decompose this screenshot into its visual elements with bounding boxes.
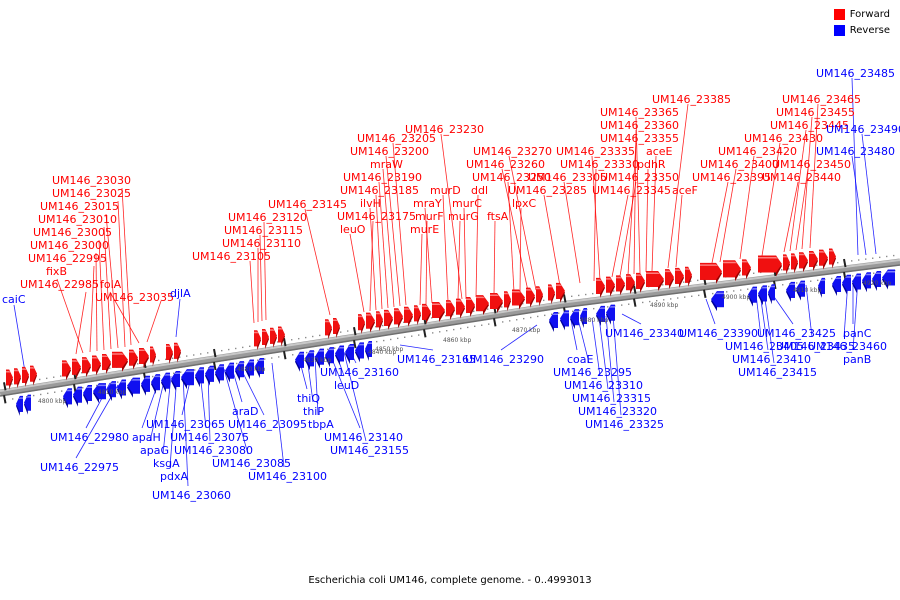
gene-label[interactable]: UM146_23345 bbox=[592, 185, 671, 196]
scale-tick-minor bbox=[733, 290, 734, 291]
gene-arrow-highlight bbox=[791, 255, 796, 257]
gene-arrow-forward[interactable] bbox=[596, 278, 605, 298]
gene-arrow-reverse[interactable] bbox=[549, 312, 558, 332]
gene-label[interactable]: UM146_23155 bbox=[330, 445, 409, 456]
gene-arrow-forward[interactable] bbox=[278, 327, 285, 347]
gene-arrow-forward[interactable] bbox=[723, 260, 741, 281]
gene-label[interactable]: UM146_23360 bbox=[600, 120, 679, 131]
gene-label[interactable]: UM146_23105 bbox=[192, 251, 271, 262]
gene-arrow-forward[interactable] bbox=[325, 319, 332, 339]
gene-arrow-highlight bbox=[548, 286, 553, 288]
gene-arrow-forward[interactable] bbox=[466, 297, 475, 317]
scale-tick-major bbox=[704, 290, 706, 298]
gene-arrow-highlight bbox=[333, 319, 338, 321]
gene-arrow-highlight bbox=[504, 293, 509, 295]
gene-arrow-forward[interactable] bbox=[791, 253, 798, 273]
forward-color-swatch bbox=[834, 9, 845, 20]
scale-tick-minor bbox=[558, 312, 559, 313]
gene-label[interactable]: UM146_23085 bbox=[212, 458, 291, 469]
gene-arrow-forward[interactable] bbox=[166, 344, 173, 364]
gene-arrow-forward[interactable] bbox=[422, 304, 431, 324]
gene-arrow-forward[interactable] bbox=[512, 289, 525, 309]
gene-arrow-highlight bbox=[325, 321, 330, 323]
scale-tick-label: 4850 kbp bbox=[375, 347, 403, 353]
gene-arrow-highlight bbox=[820, 279, 825, 281]
gene-label[interactable]: tbpA bbox=[308, 419, 334, 430]
gene-arrow-reverse[interactable] bbox=[24, 395, 31, 415]
gene-arrow-reverse[interactable] bbox=[127, 378, 140, 398]
gene-label[interactable]: ksgA bbox=[153, 458, 180, 469]
gene-label[interactable]: UM146_23450 bbox=[772, 159, 851, 170]
gene-label[interactable]: lpxC bbox=[512, 198, 536, 209]
gene-label[interactable]: apaG bbox=[140, 445, 169, 456]
gene-arrow-forward[interactable] bbox=[616, 275, 625, 295]
gene-arrow-forward[interactable] bbox=[432, 302, 445, 322]
figure-caption: Escherichia coli UM146, complete genome.… bbox=[0, 575, 900, 586]
scale-tick-minor bbox=[712, 293, 713, 294]
scale-tick-minor bbox=[453, 329, 454, 330]
gene-arrow-reverse[interactable] bbox=[335, 346, 344, 366]
gene-label[interactable]: UM146_23325 bbox=[585, 419, 664, 430]
gene-label[interactable]: UM146_23340 bbox=[605, 328, 684, 339]
gene-label[interactable]: pdhR bbox=[637, 159, 666, 170]
scale-tick-minor bbox=[726, 291, 727, 292]
leader-line bbox=[458, 221, 460, 300]
scale-tick-minor bbox=[292, 354, 293, 355]
gene-arrow-reverse[interactable] bbox=[832, 276, 841, 296]
gene-label[interactable]: ftsA bbox=[487, 211, 508, 222]
scale-tick-minor bbox=[481, 325, 482, 326]
gene-arrow-forward[interactable] bbox=[548, 284, 555, 304]
scale-tick-label: 4800 kbp bbox=[38, 399, 66, 405]
scale-tick-minor bbox=[572, 311, 573, 312]
gene-arrow-reverse[interactable] bbox=[83, 385, 92, 405]
scale-tick-minor bbox=[152, 376, 153, 377]
scale-tick-minor bbox=[236, 363, 237, 364]
gene-label[interactable]: UM146_23430 bbox=[744, 133, 823, 144]
gene-arrow-forward[interactable] bbox=[665, 269, 674, 289]
scale-tick-minor bbox=[249, 346, 250, 347]
reverse-color-swatch bbox=[834, 25, 845, 36]
gene-label[interactable]: UM146_23295 bbox=[553, 367, 632, 378]
scale-tick-minor bbox=[683, 281, 684, 282]
gene-label[interactable]: UM146_23365 bbox=[600, 107, 679, 118]
leader-line bbox=[520, 208, 521, 292]
gene-arrow-highlight bbox=[18, 397, 23, 399]
gene-label[interactable]: leuD bbox=[334, 380, 359, 391]
gene-arrow-reverse[interactable] bbox=[570, 309, 579, 329]
gene-label[interactable]: UM146_23440 bbox=[762, 172, 841, 183]
gene-label[interactable]: thiP bbox=[303, 406, 324, 417]
scale-tick-minor bbox=[753, 273, 754, 274]
scale-tick-minor bbox=[172, 358, 173, 359]
gene-arrow-highlight bbox=[685, 268, 690, 270]
gene-label[interactable]: UM146_23005 bbox=[33, 227, 112, 238]
scale-tick-minor bbox=[207, 352, 208, 353]
gene-arrow-forward[interactable] bbox=[758, 255, 782, 276]
scale-tick-label: 4920 kbp bbox=[863, 281, 891, 287]
scale-tick-minor bbox=[628, 304, 629, 305]
scale-tick-minor bbox=[592, 293, 593, 294]
scale-tick-major bbox=[214, 362, 216, 370]
gene-arrow-forward[interactable] bbox=[82, 357, 91, 377]
gene-arrow-forward[interactable] bbox=[14, 368, 21, 388]
gene-arrow-forward[interactable] bbox=[446, 300, 455, 320]
gene-label[interactable]: fixB bbox=[46, 266, 67, 277]
scale-tick-minor bbox=[893, 255, 894, 256]
scale-tick-minor bbox=[796, 282, 797, 283]
legend-label-forward: Forward bbox=[850, 10, 890, 20]
gene-label[interactable]: UM146_23465 bbox=[782, 94, 861, 105]
gene-arrow-forward[interactable] bbox=[72, 359, 81, 379]
strand-legend: Forward Reverse bbox=[834, 8, 890, 40]
gene-arrow-highlight bbox=[278, 328, 283, 330]
gene-label[interactable]: UM146_23270 bbox=[473, 146, 552, 157]
gene-arrow-forward[interactable] bbox=[809, 251, 818, 271]
scale-tick-minor bbox=[684, 296, 685, 297]
gene-arrow-reverse[interactable] bbox=[215, 364, 224, 384]
gene-arrow-forward[interactable] bbox=[700, 263, 722, 284]
gene-label[interactable]: UM146_23310 bbox=[564, 380, 643, 391]
scale-tick-minor bbox=[418, 334, 419, 335]
gene-label[interactable]: UM146_22985 bbox=[20, 279, 99, 290]
gene-arrow-reverse[interactable] bbox=[205, 366, 214, 386]
scale-tick-major bbox=[494, 318, 496, 326]
gene-arrow-forward[interactable] bbox=[646, 271, 664, 291]
gene-label[interactable]: UM146_23350 bbox=[600, 172, 679, 183]
scale-tick-minor bbox=[578, 295, 579, 296]
gene-label[interactable]: UM146_23120 bbox=[228, 212, 307, 223]
gene-arrow-forward[interactable] bbox=[254, 330, 261, 350]
gene-arrow-reverse[interactable] bbox=[171, 371, 180, 391]
scale-tick-minor bbox=[621, 304, 622, 305]
scale-tick-minor bbox=[872, 258, 873, 259]
scale-tick-minor bbox=[109, 368, 110, 369]
genome-map-canvas: UM146_23030UM146_23025UM146_23015UM146_2… bbox=[0, 0, 900, 600]
scale-tick-minor bbox=[347, 330, 348, 331]
scale-tick-minor bbox=[46, 378, 47, 379]
gene-label[interactable]: UM146_23460 bbox=[808, 341, 887, 352]
scale-tick-minor bbox=[382, 325, 383, 326]
gene-label[interactable]: ilvH bbox=[360, 198, 381, 209]
gene-label[interactable]: UM146_23385 bbox=[652, 94, 731, 105]
scale-tick-minor bbox=[523, 318, 524, 319]
gene-label[interactable]: UM146_23335 bbox=[556, 146, 635, 157]
leader-line bbox=[622, 314, 641, 324]
scale-tick-minor bbox=[257, 360, 258, 361]
scale-tick-minor bbox=[663, 299, 664, 300]
scale-tick-minor bbox=[376, 341, 377, 342]
gene-arrow-forward[interactable] bbox=[626, 274, 635, 294]
gene-label[interactable]: UM146_23025 bbox=[52, 188, 131, 199]
scale-tick-minor bbox=[460, 328, 461, 329]
gene-arrow-forward[interactable] bbox=[799, 252, 808, 272]
gene-label[interactable]: murE bbox=[410, 224, 439, 235]
gene-label[interactable]: UM146_23145 bbox=[268, 199, 347, 210]
scale-tick-minor bbox=[397, 338, 398, 339]
gene-label[interactable]: pdxA bbox=[160, 471, 188, 482]
scale-tick-major bbox=[284, 351, 286, 359]
scale-tick-minor bbox=[340, 331, 341, 332]
gene-arrow-forward[interactable] bbox=[22, 367, 29, 387]
gene-label[interactable]: UM146_23095 bbox=[228, 419, 307, 430]
leader-line bbox=[350, 234, 364, 312]
gene-arrow-forward[interactable] bbox=[129, 350, 138, 370]
scale-tick-minor bbox=[698, 295, 699, 296]
gene-arrow-highlight bbox=[414, 307, 419, 309]
scale-tick-minor bbox=[543, 300, 544, 301]
gene-label[interactable]: UM146_23400 bbox=[700, 159, 779, 170]
gene-arrow-forward[interactable] bbox=[384, 310, 393, 330]
scale-tick-label: 4890 kbp bbox=[650, 303, 678, 309]
scale-tick-minor bbox=[691, 296, 692, 297]
gene-label[interactable]: aceE bbox=[646, 146, 673, 157]
scale-tick-minor bbox=[327, 349, 328, 350]
gene-arrow-highlight bbox=[700, 264, 718, 266]
gene-arrow-forward[interactable] bbox=[102, 354, 111, 374]
gene-arrow-forward[interactable] bbox=[783, 254, 790, 274]
gene-label[interactable]: caiC bbox=[2, 294, 26, 305]
scale-tick-minor bbox=[390, 339, 391, 340]
gene-arrow-forward[interactable] bbox=[30, 366, 37, 386]
gene-arrow-forward[interactable] bbox=[675, 268, 684, 288]
gene-arrow-reverse[interactable] bbox=[768, 284, 775, 304]
gene-label[interactable]: UM146_23330 bbox=[560, 159, 639, 170]
gene-label[interactable]: djlA bbox=[170, 288, 191, 299]
gene-label[interactable]: UM146_23160 bbox=[320, 367, 399, 378]
gene-arrow-forward[interactable] bbox=[150, 347, 156, 367]
gene-arrow-highlight bbox=[14, 370, 19, 372]
gene-label[interactable]: murF bbox=[415, 211, 444, 222]
gene-label[interactable]: UM146_23015 bbox=[40, 201, 119, 212]
gene-label[interactable]: UM146_23285 bbox=[508, 185, 587, 196]
gene-arrow-highlight bbox=[270, 329, 275, 331]
scale-tick-minor bbox=[312, 336, 313, 337]
leader-line bbox=[147, 301, 161, 342]
scale-tick-minor bbox=[579, 310, 580, 311]
gene-label[interactable]: mraY bbox=[413, 198, 442, 209]
gene-label[interactable]: UM146_23035 bbox=[95, 292, 174, 303]
gene-arrow-highlight bbox=[376, 313, 381, 315]
gene-arrow-forward[interactable] bbox=[139, 348, 149, 368]
gene-arrow-forward[interactable] bbox=[829, 249, 836, 269]
leader-line bbox=[250, 261, 254, 323]
gene-arrow-forward[interactable] bbox=[536, 286, 543, 306]
gene-arrow-forward[interactable] bbox=[376, 311, 383, 331]
gene-arrow-forward[interactable] bbox=[366, 313, 375, 333]
gene-label[interactable]: UM146_23260 bbox=[466, 159, 545, 170]
gene-label[interactable]: aceF bbox=[672, 185, 698, 196]
gene-label[interactable]: UM146_23415 bbox=[738, 367, 817, 378]
gene-arrow-forward[interactable] bbox=[174, 343, 181, 363]
scale-tick-minor bbox=[61, 390, 62, 391]
scale-tick-label: 4880 kbp bbox=[580, 318, 608, 324]
gene-label[interactable]: folA bbox=[100, 279, 121, 290]
scale-tick-minor bbox=[865, 258, 866, 259]
scale-tick-minor bbox=[228, 349, 229, 350]
scale-tick-major bbox=[354, 340, 356, 348]
scale-tick-minor bbox=[831, 278, 832, 279]
gene-arrow-forward[interactable] bbox=[262, 329, 269, 349]
leader-line bbox=[272, 363, 284, 467]
scale-tick-label: 4900 kbp bbox=[722, 295, 750, 301]
gene-label[interactable]: murD bbox=[430, 185, 461, 196]
scale-tick-minor bbox=[334, 348, 335, 349]
scale-tick-minor bbox=[879, 257, 880, 258]
scale-tick-minor bbox=[530, 317, 531, 318]
gene-label[interactable]: UM146_23010 bbox=[38, 214, 117, 225]
gene-arrow-reverse[interactable] bbox=[141, 376, 150, 396]
scale-tick-minor bbox=[200, 353, 201, 354]
gene-label[interactable]: UM146_23315 bbox=[572, 393, 651, 404]
gene-label[interactable]: panB bbox=[843, 354, 871, 365]
scale-tick-minor bbox=[291, 339, 292, 340]
gene-label[interactable]: UM146_23490 bbox=[826, 124, 900, 135]
scale-tick-minor bbox=[544, 315, 545, 316]
gene-label[interactable]: panC bbox=[843, 328, 871, 339]
gene-arrow-reverse[interactable] bbox=[225, 363, 234, 383]
gene-arrow-forward[interactable] bbox=[556, 283, 565, 303]
gene-arrow-reverse[interactable] bbox=[16, 396, 23, 416]
gene-arrow-forward[interactable] bbox=[92, 356, 101, 376]
gene-label[interactable]: UM146_23420 bbox=[718, 146, 797, 157]
gene-label[interactable]: UM146_23390 bbox=[679, 328, 758, 339]
gene-label[interactable]: UM146_23115 bbox=[224, 225, 303, 236]
leader-line bbox=[676, 195, 682, 267]
scale-tick-label: 4810 kbp bbox=[98, 390, 126, 396]
gene-label[interactable]: UM146_23080 bbox=[174, 445, 253, 456]
gene-label[interactable]: araD bbox=[232, 406, 258, 417]
gene-arrow-reverse[interactable] bbox=[355, 342, 364, 362]
gene-label[interactable]: UM146_23000 bbox=[30, 240, 109, 251]
scale-tick-minor bbox=[487, 308, 488, 309]
gene-label[interactable]: UM146_22975 bbox=[40, 462, 119, 473]
gene-arrow-forward[interactable] bbox=[526, 288, 535, 308]
gene-arrow-forward[interactable] bbox=[112, 352, 128, 372]
scale-tick-minor bbox=[488, 323, 489, 324]
gene-label[interactable]: UM146_23190 bbox=[343, 172, 422, 183]
scale-tick-minor bbox=[193, 354, 194, 355]
leader-line bbox=[420, 234, 422, 305]
gene-arrow-reverse[interactable] bbox=[181, 369, 194, 389]
gene-arrow-highlight bbox=[358, 316, 363, 318]
scale-tick-minor bbox=[467, 327, 468, 328]
gene-label[interactable]: ddl bbox=[471, 185, 488, 196]
gene-arrow-forward[interactable] bbox=[742, 259, 751, 279]
scale-tick-minor bbox=[221, 350, 222, 351]
gene-label[interactable]: UM146_23410 bbox=[732, 354, 811, 365]
gene-arrow-forward[interactable] bbox=[504, 291, 511, 311]
gene-label[interactable]: UM146_23320 bbox=[578, 406, 657, 417]
gene-label[interactable]: UM146_23485 bbox=[816, 68, 895, 79]
scale-tick-label: 4820 kbp bbox=[237, 367, 265, 373]
gene-label[interactable]: leuO bbox=[340, 224, 365, 235]
gene-label[interactable]: UM146_23175 bbox=[337, 211, 416, 222]
scale-tick-label: 4860 kbp bbox=[443, 338, 471, 344]
scale-tick-minor bbox=[53, 377, 54, 378]
gene-label[interactable]: UM146_23030 bbox=[52, 175, 131, 186]
gene-arrow-forward[interactable] bbox=[404, 307, 413, 327]
gene-arrow-forward[interactable] bbox=[490, 293, 503, 313]
gene-label[interactable]: UM146_23200 bbox=[350, 146, 429, 157]
scale-tick-minor bbox=[473, 311, 474, 312]
gene-label[interactable]: apaH bbox=[132, 432, 161, 443]
gene-label[interactable]: murG bbox=[448, 211, 479, 222]
gene-label[interactable]: UM146_23480 bbox=[816, 146, 895, 157]
gene-label[interactable]: UM146_23065 bbox=[146, 419, 225, 430]
legend-row-reverse: Reverse bbox=[834, 24, 890, 37]
gene-label[interactable]: UM146_23455 bbox=[776, 107, 855, 118]
gene-label[interactable]: coaE bbox=[567, 354, 593, 365]
scale-tick-minor bbox=[60, 375, 61, 376]
scale-tick-minor bbox=[768, 286, 769, 287]
gene-arrow-forward[interactable] bbox=[819, 250, 828, 270]
gene-arrow-forward[interactable] bbox=[414, 305, 421, 325]
gene-arrow-forward[interactable] bbox=[606, 277, 615, 297]
gene-label[interactable]: UM146_23355 bbox=[600, 133, 679, 144]
gene-label[interactable]: UM146_23100 bbox=[248, 471, 327, 482]
gene-label[interactable]: UM146_23395 bbox=[692, 172, 771, 183]
scale-tick-minor bbox=[158, 360, 159, 361]
gene-label[interactable]: UM146_23230 bbox=[405, 124, 484, 135]
scale-tick-minor bbox=[593, 308, 594, 309]
scale-tick-minor bbox=[319, 335, 320, 336]
scale-tick-minor bbox=[82, 387, 83, 388]
scale-tick-label: 4830 kbp bbox=[303, 358, 331, 364]
gene-label[interactable]: thiQ bbox=[297, 393, 320, 404]
leader-line bbox=[305, 209, 330, 315]
gene-arrow-forward[interactable] bbox=[394, 308, 403, 328]
gene-arrow-forward[interactable] bbox=[358, 314, 365, 334]
gene-label[interactable]: UM146_23060 bbox=[152, 490, 231, 501]
gene-arrow-forward[interactable] bbox=[62, 360, 71, 380]
gene-arrow-highlight bbox=[30, 367, 35, 369]
gene-arrow-forward[interactable] bbox=[685, 267, 692, 287]
gene-arrow-reverse[interactable] bbox=[560, 310, 569, 330]
gene-label[interactable]: UM146_23290 bbox=[465, 354, 544, 365]
scale-tick-label: 4870 kbp bbox=[512, 328, 540, 334]
gene-arrow-reverse[interactable] bbox=[842, 275, 851, 295]
gene-arrow-highlight bbox=[646, 272, 660, 274]
scale-tick-minor bbox=[439, 331, 440, 332]
gene-label[interactable]: UM146_23110 bbox=[222, 238, 301, 249]
gene-arrow-forward[interactable] bbox=[6, 369, 13, 389]
gene-label[interactable]: UM146_23140 bbox=[324, 432, 403, 443]
gene-label[interactable]: UM146_22995 bbox=[28, 253, 107, 264]
gene-label[interactable]: UM146_23075 bbox=[170, 432, 249, 443]
gene-arrow-forward[interactable] bbox=[476, 295, 489, 315]
gene-label[interactable]: UM146_23305 bbox=[528, 172, 607, 183]
scale-tick-minor bbox=[40, 394, 41, 395]
scale-tick-minor bbox=[852, 275, 853, 276]
gene-arrow-highlight bbox=[166, 345, 171, 347]
scale-tick-minor bbox=[509, 320, 510, 321]
scale-tick-minor bbox=[186, 355, 187, 356]
gene-label[interactable]: murC bbox=[452, 198, 482, 209]
scale-tick-minor bbox=[180, 371, 181, 372]
gene-arrow-forward[interactable] bbox=[270, 328, 277, 348]
gene-label[interactable]: UM146_23185 bbox=[340, 185, 419, 196]
scale-tick-minor bbox=[816, 265, 817, 266]
scale-tick-minor bbox=[235, 348, 236, 349]
gene-label[interactable]: UM146_23425 bbox=[757, 328, 836, 339]
gene-arrow-forward[interactable] bbox=[333, 318, 340, 338]
gene-arrow-forward[interactable] bbox=[456, 299, 465, 319]
gene-arrow-reverse[interactable] bbox=[195, 367, 204, 387]
gene-arrow-forward[interactable] bbox=[636, 273, 645, 293]
gene-label[interactable]: mraW bbox=[370, 159, 403, 170]
gene-label[interactable]: UM146_22980 bbox=[50, 432, 129, 443]
